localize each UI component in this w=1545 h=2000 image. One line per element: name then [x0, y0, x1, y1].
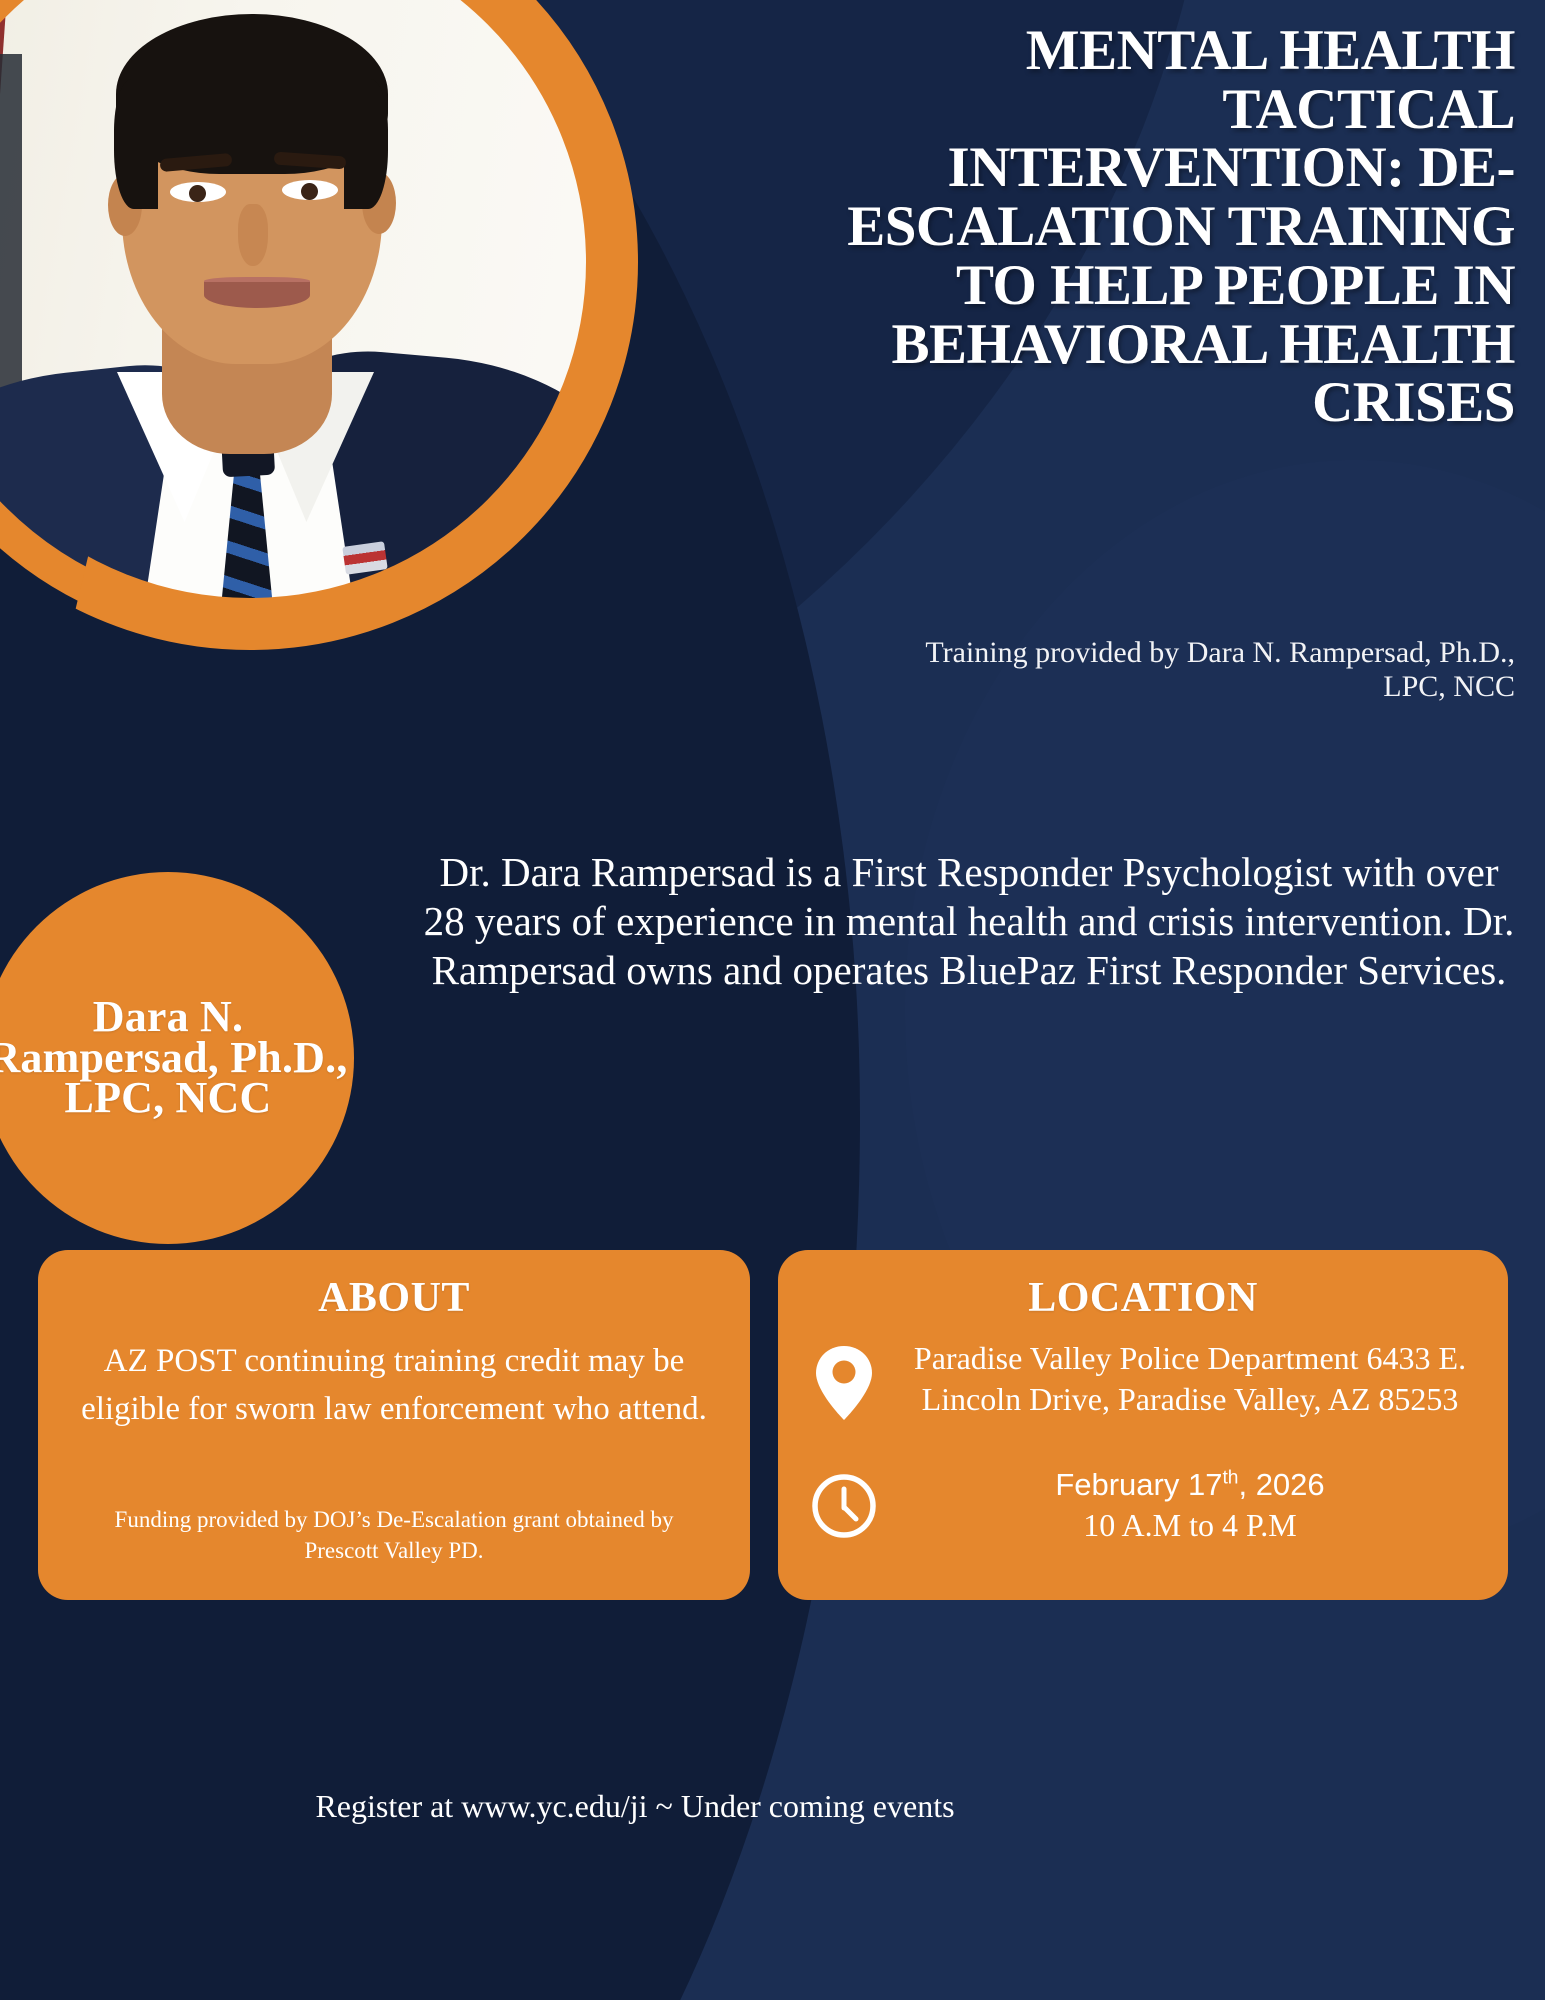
- about-card-body: AZ POST continuing training credit may b…: [64, 1338, 724, 1434]
- presenter-subtitle-text: Training provided by Dara N. Rampersad, …: [925, 636, 1515, 703]
- location-card-title: LOCATION: [804, 1274, 1482, 1322]
- register-footer: Register at www.yc.edu/ji ~ Under coming…: [0, 1788, 1270, 1825]
- location-datetime-row: February 17th, 2026 10 A.M to 4 P.M: [804, 1466, 1482, 1546]
- event-date-year: , 2026: [1238, 1467, 1324, 1502]
- presenter-bio: Dr. Dara Rampersad is a First Responder …: [420, 848, 1518, 996]
- map-pin-icon: [804, 1338, 884, 1422]
- location-datetime: February 17th, 2026 10 A.M to 4 P.M: [904, 1466, 1482, 1546]
- location-address: Paradise Valley Police Department 6433 E…: [904, 1338, 1482, 1420]
- info-cards: ABOUT AZ POST continuing training credit…: [38, 1250, 1508, 1600]
- clock-icon: [804, 1472, 884, 1540]
- presenter-name-text: Dara N. Rampersad, Ph.D., LPC, NCC: [0, 997, 354, 1120]
- location-address-row: Paradise Valley Police Department 6433 E…: [804, 1338, 1482, 1422]
- location-card: LOCATION Paradise Valley Police Departme…: [778, 1250, 1508, 1600]
- presenter-subtitle: Training provided by Dara N. Rampersad, …: [870, 636, 1515, 704]
- event-date-monthday: February 17: [1055, 1467, 1222, 1502]
- about-card-title: ABOUT: [64, 1274, 724, 1322]
- event-date-ordinal: th: [1222, 1468, 1238, 1489]
- event-time: 10 A.M to 4 P.M: [904, 1505, 1476, 1547]
- portrait-container: [0, 0, 630, 642]
- page-title: MENTAL HEALTH TACTICAL INTERVENTION: DE-…: [800, 22, 1515, 433]
- about-card-funding-note: Funding provided by DOJ’s De-Escalation …: [64, 1504, 724, 1566]
- flyer-poster: Dara N. Rampersad, Ph.D., LPC, NCC MENTA…: [0, 0, 1545, 2000]
- about-card: ABOUT AZ POST continuing training credit…: [38, 1250, 750, 1600]
- event-date: February 17th, 2026: [904, 1466, 1476, 1505]
